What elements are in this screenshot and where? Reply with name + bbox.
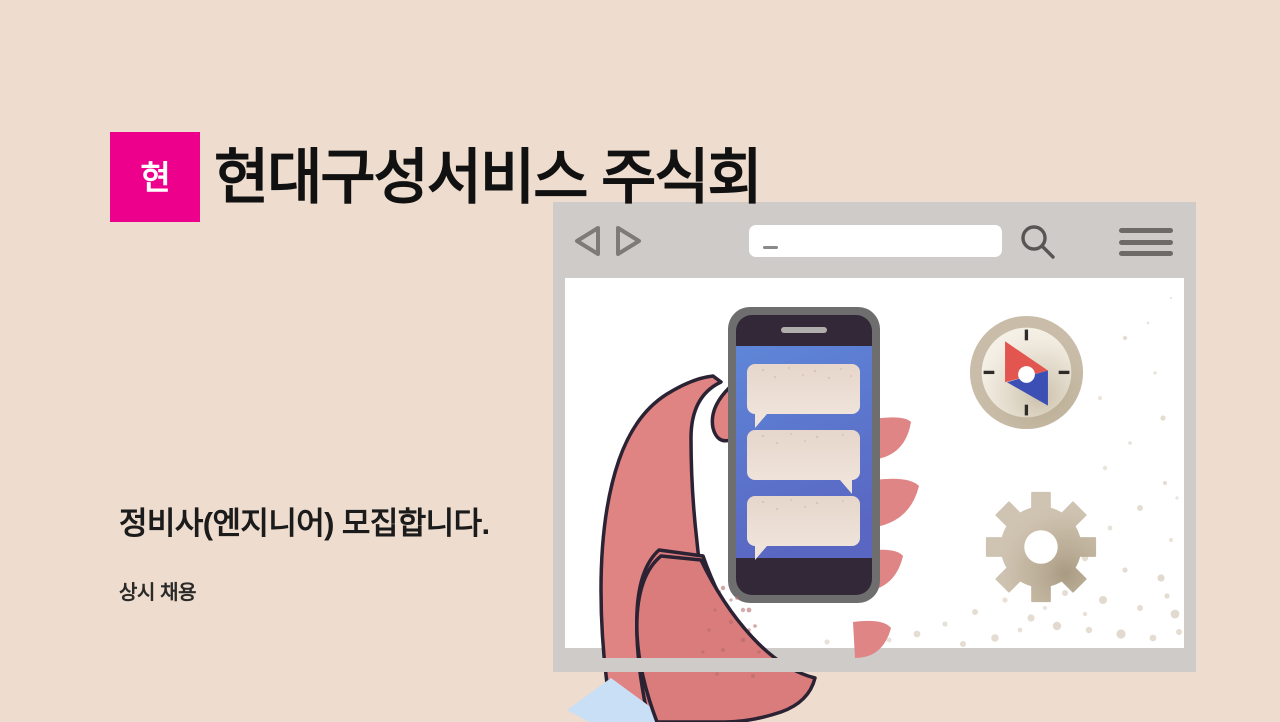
speaker-slot [781,327,827,333]
compass-icon [968,314,1085,431]
triangle-right-icon[interactable] [616,226,642,256]
company-name: 현대구성서비스 주식회 [214,146,761,209]
hamburger-menu-icon[interactable] [1119,228,1173,256]
job-posting-card: 현 현대구성서비스 주식회 정비사(엔지니어) 모집합니다. 상시 채용 [0,0,1280,722]
company-badge-label: 현 [140,161,169,194]
smartphone [728,307,880,603]
browser-window-bottom-frame [553,658,1196,672]
company-logo-badge: 현 [110,132,200,222]
hamburger-line [1119,228,1173,233]
hand-holding-phone-illustration [553,270,953,722]
browser-nav-arrows [574,226,642,256]
hamburger-line [1119,251,1173,256]
hamburger-line [1119,240,1173,245]
search-icon[interactable] [1019,223,1057,261]
triangle-left-icon[interactable] [574,226,600,256]
job-title: 정비사(엔지니어) 모집합니다. [119,498,490,543]
text-caret [763,246,778,249]
address-bar[interactable] [749,225,1002,257]
employment-type-label: 상시 채용 [119,576,196,605]
chat-bubble-list [747,364,860,560]
gear-icon [980,486,1102,608]
company-header: 현 현대구성서비스 주식회 [110,132,761,222]
